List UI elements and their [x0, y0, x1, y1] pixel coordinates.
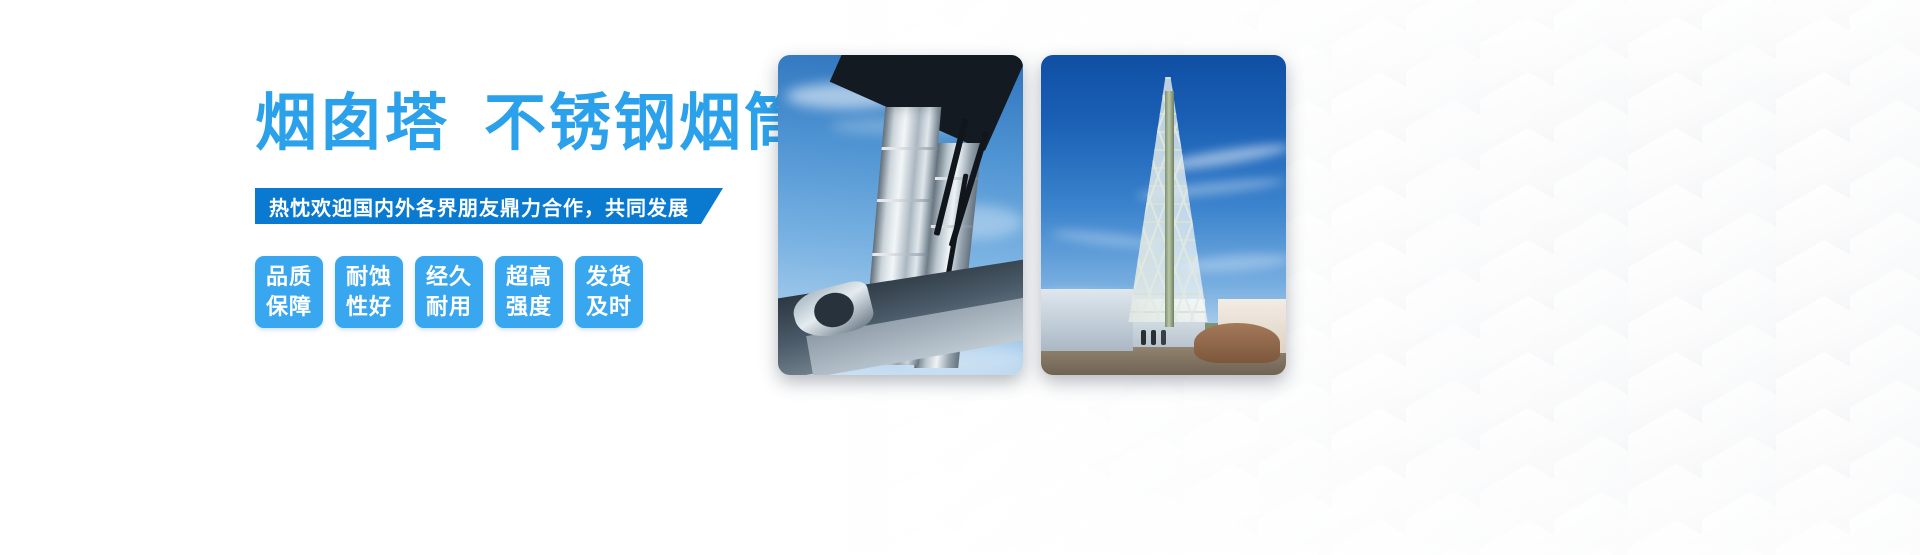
photo-stainless-steel-chimney-stacks — [778, 55, 1023, 375]
person-figure — [1161, 330, 1166, 345]
base-building — [1041, 289, 1133, 351]
headline-part-2: 不锈钢烟筒 — [484, 89, 809, 158]
feature-badge-line-1: 发货 — [586, 262, 632, 292]
feature-badge-line-1: 耐蚀 — [346, 262, 392, 292]
feature-badge-line-2: 性好 — [346, 292, 392, 322]
feature-badge[interactable]: 耐蚀性好 — [335, 256, 403, 328]
banner-subtitle-bar-wrap: 热忱欢迎国内外各界朋友鼎力合作，共同发展 — [255, 188, 723, 224]
tower-flue-pipe — [1165, 91, 1174, 327]
stack-band — [877, 199, 933, 202]
feature-badge[interactable]: 品质保障 — [255, 256, 323, 328]
feature-badge-line-2: 耐用 — [426, 292, 472, 322]
promo-banner: 烟囱塔不锈钢烟筒 热忱欢迎国内外各界朋友鼎力合作，共同发展 品质保障耐蚀性好经久… — [0, 0, 1920, 555]
feature-badge[interactable]: 发货及时 — [575, 256, 643, 328]
photo-card-lattice-tower[interactable] — [1041, 55, 1286, 375]
feature-badge-line-2: 及时 — [586, 292, 632, 322]
feature-badge-row: 品质保障耐蚀性好经久耐用超高强度发货及时 — [255, 256, 643, 328]
banner-subtitle-text: 热忱欢迎国内外各界朋友鼎力合作，共同发展 — [269, 192, 689, 221]
feature-badge-line-1: 经久 — [426, 262, 472, 292]
person-figure — [1141, 330, 1146, 345]
photo-lattice-chimney-tower — [1041, 55, 1286, 375]
feature-badge[interactable]: 经久耐用 — [415, 256, 483, 328]
feature-badge-line-1: 超高 — [506, 262, 552, 292]
feature-badge-line-2: 保障 — [266, 292, 312, 322]
banner-subtitle-bar: 热忱欢迎国内外各界朋友鼎力合作，共同发展 — [255, 188, 723, 224]
person-figure — [1151, 330, 1156, 345]
banner-headline: 烟囱塔不锈钢烟筒 — [255, 88, 809, 160]
stack-band — [882, 147, 938, 150]
dirt-mound — [1194, 323, 1280, 363]
headline-part-1: 烟囱塔 — [255, 89, 450, 158]
feature-badge-line-2: 强度 — [506, 292, 552, 322]
feature-badge[interactable]: 超高强度 — [495, 256, 563, 328]
stack-band — [872, 253, 928, 256]
photo-card-chimney-stacks[interactable] — [778, 55, 1023, 375]
feature-badge-line-1: 品质 — [266, 262, 312, 292]
